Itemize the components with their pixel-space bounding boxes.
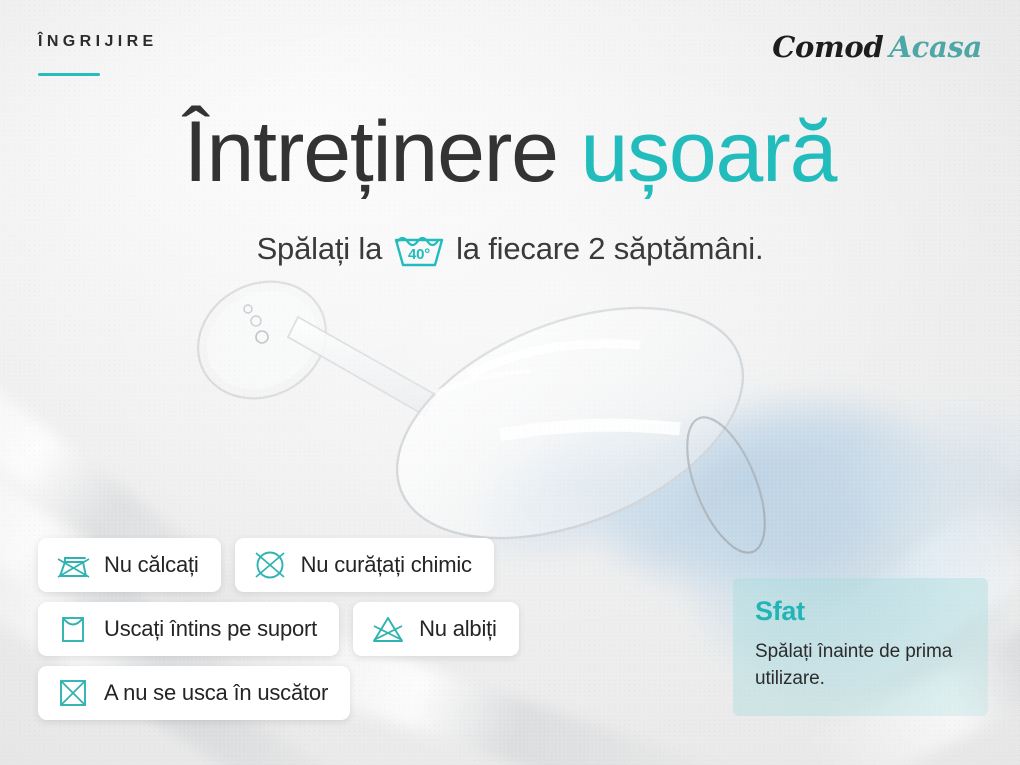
brand-logo: ComodAcasa (772, 30, 982, 64)
brand-name-second: Acasa (889, 30, 982, 64)
wash-temp-text: 40° (408, 246, 430, 263)
care-pill-label: Uscați întins pe suport (104, 616, 317, 642)
care-pill-dry-flat[interactable]: Uscați întins pe suport (38, 602, 339, 656)
wash-subtitle-before: Spălați la (257, 231, 383, 267)
care-row: Nu călcați Nu curățați chimic (38, 538, 658, 592)
care-infographic-poster: ÎNGRIJIRE ComodAcasa Întreținere ușoară … (0, 0, 1020, 765)
wash-subtitle: Spălați la 40° la fiecare 2 săptămâni. (0, 228, 1020, 270)
do-not-iron-icon (56, 549, 90, 581)
do-not-dry-clean-icon (253, 549, 287, 581)
care-instruction-list: Nu călcați Nu curățați chimic (38, 538, 658, 730)
tip-body: Spălați înainte de prima utilizare. (755, 639, 968, 693)
care-pill-do-not-bleach[interactable]: Nu albiți (353, 602, 519, 656)
page-title-accent: ușoară (580, 104, 836, 200)
eyebrow-label: ÎNGRIJIRE (38, 33, 158, 51)
care-pill-label: Nu albiți (419, 616, 497, 642)
care-pill-label: A nu se usca în uscător (104, 680, 328, 706)
care-pill-do-not-tumble-dry[interactable]: A nu se usca în uscător (38, 666, 350, 720)
care-row: Uscați întins pe suport Nu albiți (38, 602, 658, 656)
wash-subtitle-after: la fiecare 2 săptămâni. (456, 231, 763, 267)
care-pill-label: Nu călcați (104, 552, 199, 578)
page-title-primary: Întreținere (184, 104, 558, 200)
page-title: Întreținere ușoară (0, 108, 1020, 197)
care-row: A nu se usca în uscător (38, 666, 658, 720)
brand-name-first: Comod (772, 30, 883, 64)
accent-rule-icon (38, 73, 100, 76)
do-not-bleach-icon (371, 613, 405, 645)
tip-title: Sfat (755, 596, 968, 627)
care-pill-do-not-dry-clean[interactable]: Nu curățați chimic (235, 538, 494, 592)
tip-card: Sfat Spălați înainte de prima utilizare. (733, 578, 988, 716)
care-pill-label: Nu curățați chimic (301, 552, 472, 578)
dry-flat-icon (56, 613, 90, 645)
do-not-tumble-dry-icon (56, 677, 90, 709)
care-pill-do-not-iron[interactable]: Nu călcați (38, 538, 221, 592)
wash-tub-40-icon: 40° (391, 228, 447, 270)
